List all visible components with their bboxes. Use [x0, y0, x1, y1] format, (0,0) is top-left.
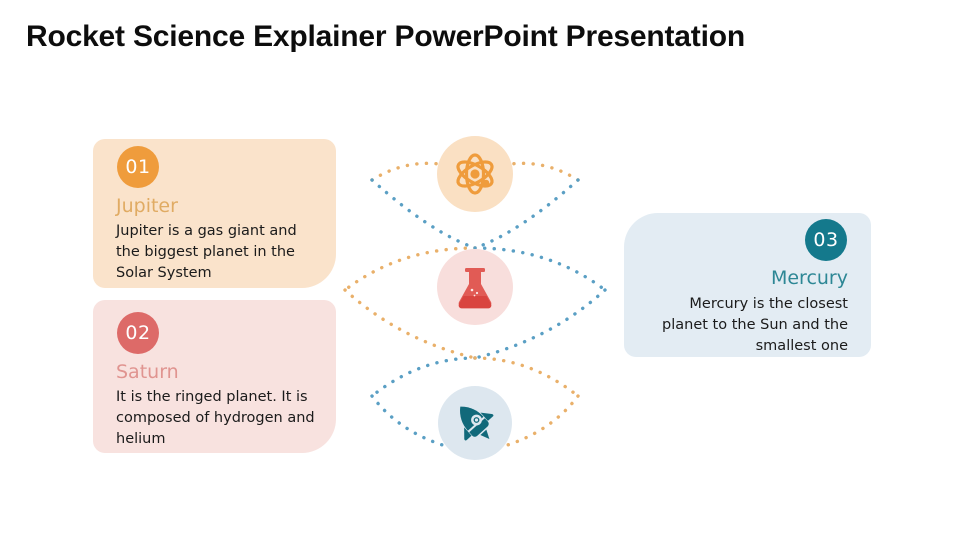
status-badge: 02 [117, 312, 159, 354]
page-title: Rocket Science Explainer PowerPoint Pres… [26, 18, 936, 56]
card-body: It is the ringed planet. It is composed … [116, 387, 321, 450]
atom-icon-glyph [451, 150, 499, 198]
slide: Rocket Science Explainer PowerPoint Pres… [0, 0, 960, 540]
status-badge: 03 [805, 219, 847, 261]
status-badge: 01 [117, 146, 159, 188]
card-heading: Jupiter [116, 195, 178, 217]
card-heading: Mercury [771, 267, 848, 289]
card-mercury[interactable]: 03 Mercury Mercury is the closest planet… [624, 213, 871, 357]
rocket-icon-glyph [451, 399, 499, 447]
card-body: Mercury is the closest planet to the Sun… [643, 294, 848, 357]
flask-icon-glyph [453, 264, 497, 310]
flask-icon [437, 249, 513, 325]
atom-icon [437, 136, 513, 212]
card-heading: Saturn [116, 361, 179, 383]
rocket-icon [438, 386, 512, 460]
card-saturn[interactable]: 02 Saturn It is the ringed planet. It is… [93, 300, 336, 453]
card-jupiter[interactable]: 01 Jupiter Jupiter is a gas giant and th… [93, 139, 336, 288]
card-body: Jupiter is a gas giant and the biggest p… [116, 221, 321, 284]
